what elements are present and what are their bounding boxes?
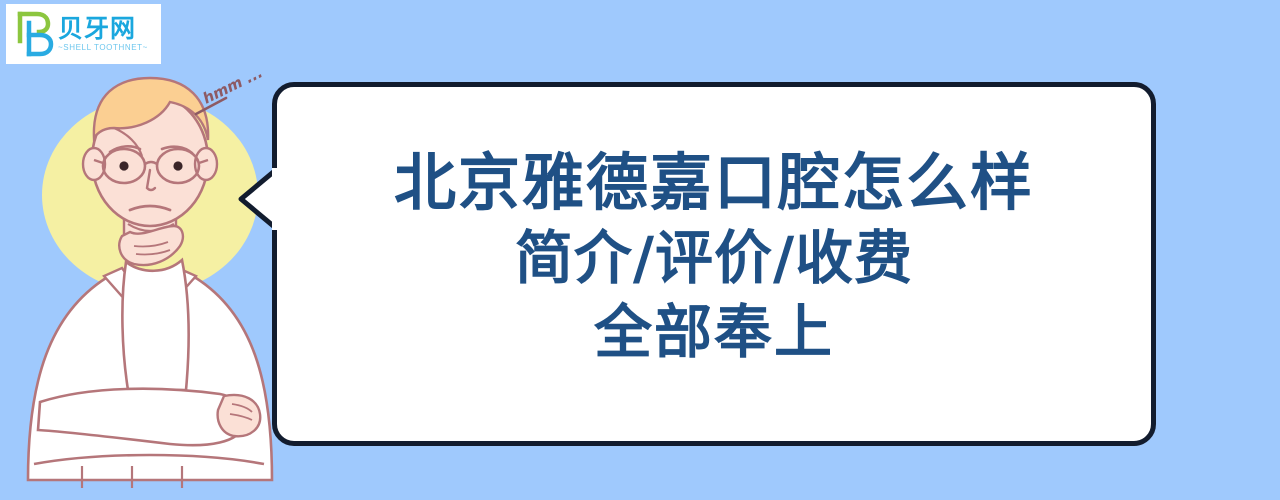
logo-brand-name-cn: 贝牙网 [58, 15, 148, 42]
speech-bubble: 北京雅德嘉口腔怎么样 简介/评价/收费 全部奉上 [272, 82, 1156, 446]
thinking-man-illustration: hmm ... [10, 60, 290, 500]
logo-brand-name-en: ~SHELL TOOTHNET~ [58, 42, 148, 53]
site-logo[interactable]: 贝牙网 ~SHELL TOOTHNET~ [6, 4, 161, 64]
svg-text:hmm ...: hmm ... [200, 63, 266, 107]
speech-bubble-text: 北京雅德嘉口腔怎么样 简介/评价/收费 全部奉上 [272, 82, 1156, 446]
headline-line-2: 简介/评价/收费 [515, 221, 913, 295]
shell-b-monogram-icon [10, 11, 54, 57]
thought-text-hmm: hmm ... [196, 63, 266, 114]
banner-image: 贝牙网 ~SHELL TOOTHNET~ [0, 0, 1280, 500]
headline-line-3: 全部奉上 [594, 295, 834, 369]
headline-line-1: 北京雅德嘉口腔怎么样 [394, 145, 1034, 221]
